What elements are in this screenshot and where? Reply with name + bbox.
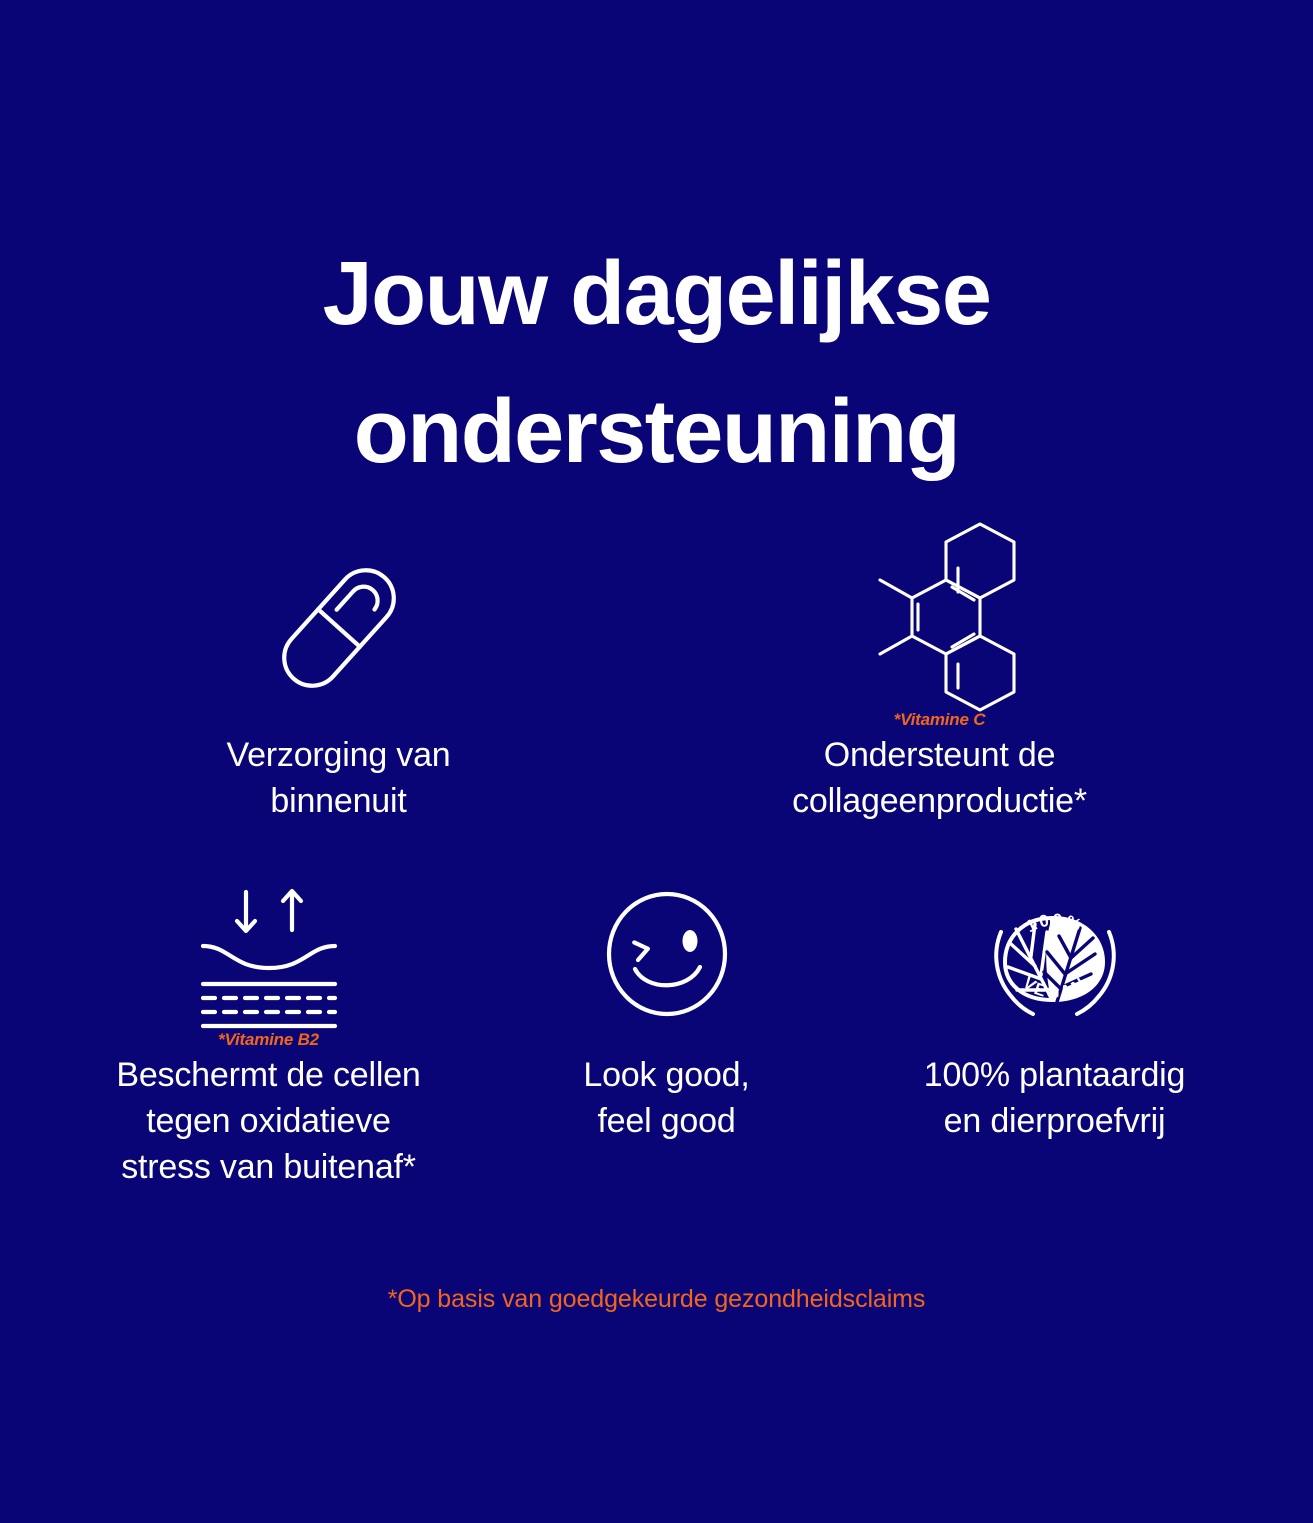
feature-item-100-plantaardig: 100% VEGAN 100% plantaardig en dierproef… (900, 880, 1210, 1144)
feature-item-beschermt-de-cellen: *Vitamine B2 Beschermt de cellen tegen o… (104, 880, 434, 1190)
feature-item-look-good-feel-good: Look good, feel good (552, 880, 782, 1144)
feature-item-verzorging-van-binnenuit: Verzorging van binnenuit (174, 548, 504, 824)
skin-layers-icon (193, 880, 345, 1028)
feature-item-ondersteunt-de-collageenproductie: *Vitamine C Ondersteunt de collageenprod… (740, 548, 1140, 824)
vegan-badge-icon: 100% VEGAN (975, 880, 1135, 1028)
feature-label: 100% plantaardig en dierproefvrij (900, 1052, 1210, 1144)
feature-row-bottom: *Vitamine B2 Beschermt de cellen tegen o… (0, 880, 1313, 1190)
vitamin-tag (664, 1030, 669, 1050)
vitamin-tag (336, 710, 341, 730)
vitamin-tag (1052, 1030, 1057, 1050)
feature-row-top: Verzorging van binnenuit (0, 548, 1313, 824)
winking-smiley-icon (602, 880, 732, 1028)
promo-panel: Jouw dagelijkse ondersteuning Verzorging… (0, 0, 1313, 1523)
molecule-icon (860, 548, 1020, 708)
feature-label: Beschermt de cellen tegen oxidatieve str… (104, 1052, 434, 1190)
feature-label: Ondersteunt de collageenproductie* (740, 732, 1140, 824)
vitamin-tag: *Vitamine B2 (218, 1030, 319, 1050)
page-title: Jouw dagelijkse ondersteuning (0, 225, 1313, 501)
vitamin-tag: *Vitamine C (894, 710, 986, 730)
capsule-pill-icon (259, 548, 419, 708)
feature-label: Look good, feel good (552, 1052, 782, 1144)
footnote-health-claims: *Op basis van goedgekeurde gezondheidscl… (0, 1284, 1313, 1314)
feature-label: Verzorging van binnenuit (174, 732, 504, 824)
